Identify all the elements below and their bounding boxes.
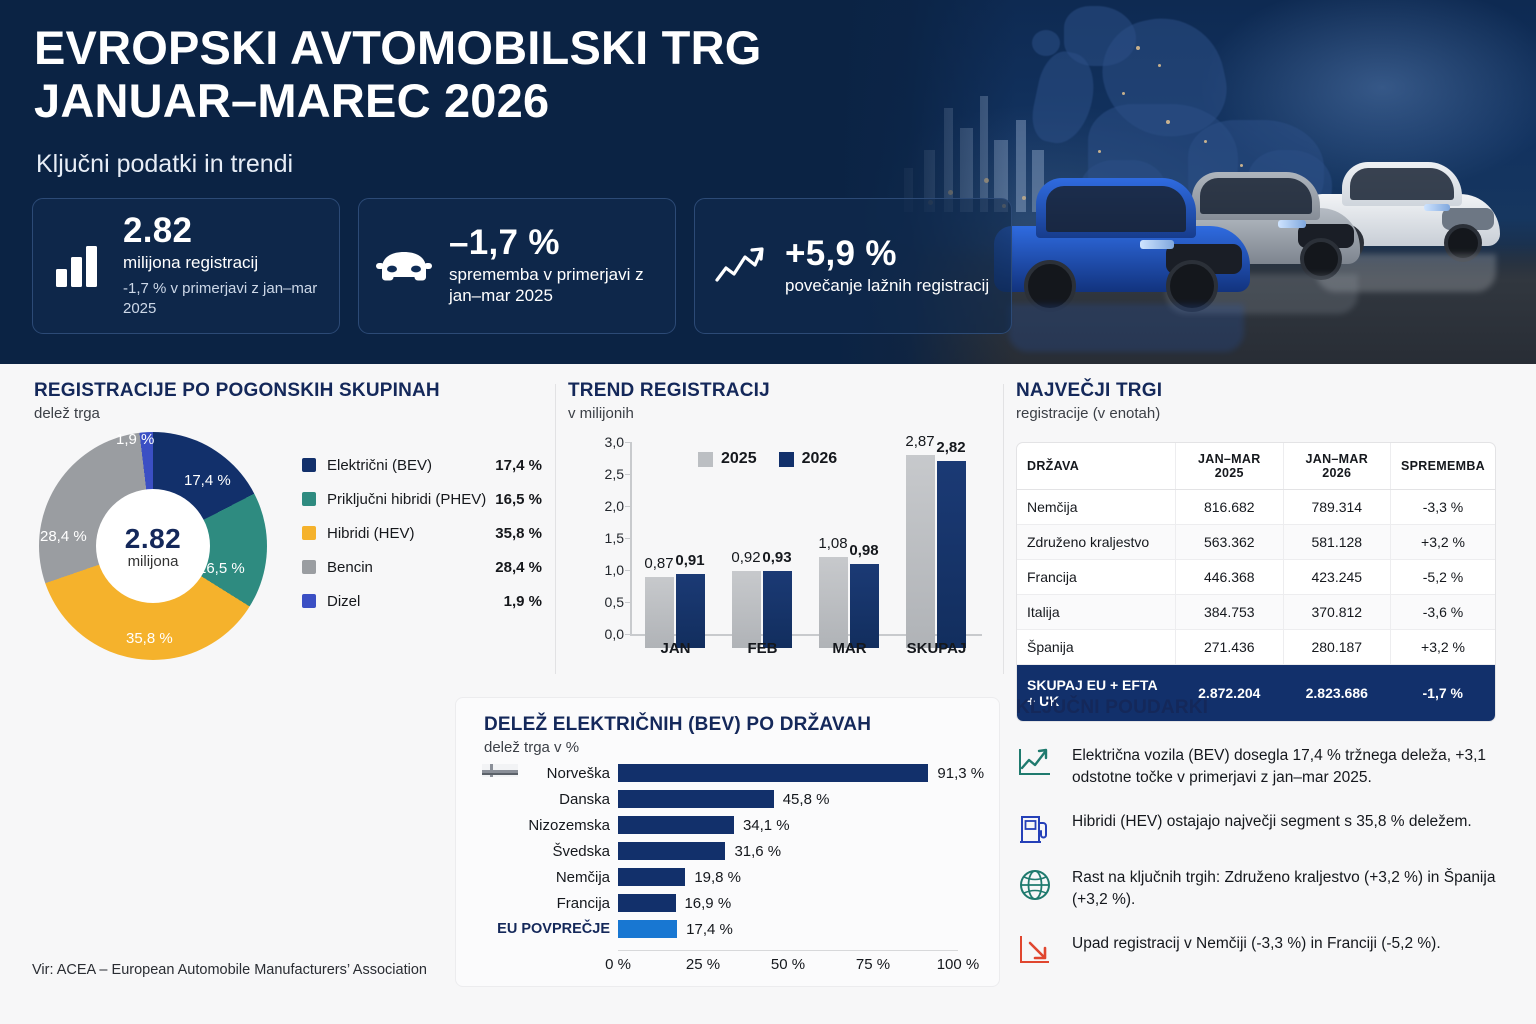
y-tick-mark [625,474,630,475]
bar-group: 1,080,98 [819,456,879,648]
bev-bar [618,842,725,860]
markets-subtitle: registracije (v enotah) [1016,405,1506,422]
bar-group: 0,870,91 [645,456,705,648]
donut-center-unit: milijona [128,553,179,570]
bev-country-label: Norveška [547,765,610,782]
kpi-label: povečanje lažnih registracij [785,275,995,296]
table-cell-change: +3,2 % [1391,525,1495,560]
title-line-2: JANUAR–MAREC 2026 [34,75,934,128]
bev-country-label: Nemčija [556,869,610,886]
y-tick-mark [625,634,630,635]
donut-label-diesel: 1,9 % [116,431,154,448]
legend-label: Bencin [327,559,495,576]
car-blue [988,168,1260,314]
bev-value-label: 16,9 % [684,895,731,912]
bev-value-label: 19,8 % [694,869,741,886]
y-tick-label: 3,0 [584,434,624,450]
bev-country-label: EU POVPREČJE [497,921,610,937]
legend-label: Dizel [327,593,504,610]
largest-markets-panel: NAJVEČJI TRGI registracije (v enotah) DR… [1016,380,1506,680]
bev-axis-line [618,950,958,951]
bev-x-tick: 50 % [758,956,818,973]
donut-center: 2.82 milijona [96,489,210,603]
y-tick-label: 0,5 [584,594,624,610]
y-tick-label: 1,0 [584,562,624,578]
bev-heading: DELEŽ ELEKTRIČNIH (BEV) PO DRŽAVAH delež… [484,714,871,756]
fuel-pump-icon [1016,811,1054,845]
y-tick-mark [625,602,630,603]
table-cell-country: Francija [1017,560,1176,595]
col-2025: JAN–MAR 2025 [1176,443,1283,490]
y-axis-line [630,442,632,634]
bar-2026: 0,93 [763,571,792,648]
bev-country-label: Danska [559,791,610,808]
divider-2 [1003,384,1004,674]
donut-legend: Električni (BEV) 17,4 % Priključni hibri… [302,448,542,618]
col-country: DRŽAVA [1017,443,1176,490]
legend-value: 35,8 % [495,525,542,542]
kpi-value: 2.82 [123,213,323,250]
legend-swatch-hev [302,526,316,540]
bev-bar [618,790,774,808]
bev-x-tick: 75 % [843,956,903,973]
bar-2025: 0,87 [645,577,674,648]
markets-table: DRŽAVA JAN–MAR 2025 JAN–MAR 2026 SPREMEM… [1017,443,1495,721]
bev-x-tick: 100 % [928,956,988,973]
highlight-item: Hibridi (HEV) ostajajo največji segment … [1016,811,1516,845]
table-row: Francija446.368423.245-5,2 % [1017,560,1495,595]
kpi-label: milijona registracij [123,252,323,273]
highlight-text: Upad registracij v Nemčiji (-3,3 %) in F… [1072,933,1441,955]
highlight-text: Rast na ključnih trgih: Združeno kraljes… [1072,867,1516,911]
y-tick-label: 1,5 [584,530,624,546]
bev-value-label: 91,3 % [937,765,984,782]
header-banner: EVROPSKI AVTOMOBILSKI TRG JANUAR–MAREC 2… [0,0,1536,364]
highlight-item: Upad registracij v Nemčiji (-3,3 %) in F… [1016,933,1516,965]
table-cell-y2025: 384.753 [1176,595,1283,630]
bar-value-label: 0,98 [849,542,878,559]
legend-value: 1,9 % [504,593,542,610]
legend-swatch-phev [302,492,316,506]
bev-country-label: Nizozemska [528,817,610,834]
x-axis-label: MAR [806,640,893,657]
table-cell-y2025: 271.436 [1176,630,1283,665]
trend-up-icon [1016,745,1054,777]
kpi-value: +5,9 % [785,236,995,273]
infographic-page: EVROPSKI AVTOMOBILSKI TRG JANUAR–MAREC 2… [0,0,1536,1024]
source-note: Vir: ACEA – European Automobile Manufact… [32,962,427,978]
highlights-title: KLJUČNI POUDARKI [1016,697,1516,719]
legend-item: Električni (BEV) 17,4 % [302,448,542,482]
bar-group: 0,920,93 [732,456,792,648]
y-tick-mark [625,570,630,571]
table-row: Španija271.436280.187+3,2 % [1017,630,1495,665]
y-tick-label: 2,0 [584,498,624,514]
table-cell-y2026: 370.812 [1283,595,1390,630]
table-cell-change: -3,3 % [1391,490,1495,525]
y-tick-label: 2,5 [584,466,624,482]
table-row: Združeno kraljestvo563.362581.128+3,2 % [1017,525,1495,560]
donut-subtitle: delež trga [34,405,544,422]
bev-x-tick: 25 % [673,956,733,973]
kpi-card-fake-registrations: +5,9 % povečanje lažnih registracij [694,198,1012,334]
legend-label: Hibridi (HEV) [327,525,495,542]
x-axis-label: JAN [632,640,719,657]
table-cell-y2026: 423.245 [1283,560,1390,595]
bar-2025: 0,92 [732,571,761,648]
bar-value-label: 0,87 [644,555,673,572]
trend-title: TREND REGISTRACIJ [568,380,988,402]
highlight-item: Rast na ključnih trgih: Združeno kraljes… [1016,867,1516,911]
bev-bar [618,894,676,912]
legend-value: 16,5 % [495,491,542,508]
trend-plot: 0,00,51,01,52,02,53,0 0,870,910,920,931,… [584,442,984,648]
legend-item: Bencin 28,4 % [302,550,542,584]
car-icon [373,246,435,286]
bar-2026: 0,98 [850,564,879,648]
col-2026: JAN–MAR 2026 [1283,443,1390,490]
legend-swatch-petrol [302,560,316,574]
bev-subtitle: delež trga v % [484,739,871,756]
donut-center-value: 2.82 [125,523,182,555]
trend-up-icon [709,244,771,288]
donut-label-bev: 17,4 % [184,472,231,489]
legend-item: Hibridi (HEV) 35,8 % [302,516,542,550]
kpi-value: –1,7 % [449,225,659,262]
table-cell-y2025: 446.368 [1176,560,1283,595]
table-cell-y2025: 563.362 [1176,525,1283,560]
page-subtitle: Ključni podatki in trendi [36,150,293,179]
table-cell-change: +3,2 % [1391,630,1495,665]
legend-item: Dizel 1,9 % [302,584,542,618]
table-cell-y2025: 816.682 [1176,490,1283,525]
table-cell-country: Italija [1017,595,1176,630]
title-line-1: EVROPSKI AVTOMOBILSKI TRG [34,22,934,75]
kpi-card-registrations: 2.82 milijona registracij -1,7 % v prime… [32,198,340,334]
bev-bar [618,920,677,938]
bar-2026: 2,82 [937,461,966,649]
donut-label-petrol: 28,4 % [40,528,87,545]
bar-value-label: 1,08 [818,535,847,552]
divider-1 [555,384,556,674]
y-tick-label: 0,0 [584,626,624,642]
bar-value-label: 0,93 [762,549,791,566]
kpi-card-row: 2.82 milijona registracij -1,7 % v prime… [32,198,1012,334]
bev-value-label: 17,4 % [686,921,733,938]
markets-title: NAJVEČJI TRGI [1016,380,1506,402]
bev-plot: Norveška91,3 %Danska45,8 %Nizozemska34,1… [480,760,980,972]
legend-swatch-diesel [302,594,316,608]
highlight-text: Hibridi (HEV) ostajajo največji segment … [1072,811,1472,833]
table-cell-country: Združeno kraljestvo [1017,525,1176,560]
bar-2025: 1,08 [819,557,848,648]
legend-value: 28,4 % [495,559,542,576]
bev-country-label: Francija [557,895,610,912]
donut-chart: 2.82 milijona 17,4 % 16,5 % 35,8 % 28,4 … [34,430,289,665]
table-cell-country: Španija [1017,630,1176,665]
norway-flag-icon [482,764,518,777]
bar-chart-icon [47,243,109,289]
table-cell-change: -3,6 % [1391,595,1495,630]
bar-2025: 2,87 [906,455,935,648]
kpi-label: sprememba v primerjavi z jan–mar 2025 [449,264,659,307]
arrow-down-icon [1016,933,1054,965]
bev-value-label: 31,6 % [734,843,781,860]
legend-label: Električni (BEV) [327,457,495,474]
bar-value-label: 2,87 [905,433,934,450]
bar-value-label: 2,82 [936,439,965,456]
y-tick-mark [625,506,630,507]
bev-bar [618,816,734,834]
page-title: EVROPSKI AVTOMOBILSKI TRG JANUAR–MAREC 2… [34,22,934,127]
bev-bar [618,868,685,886]
table-header-row: DRŽAVA JAN–MAR 2025 JAN–MAR 2026 SPREMEM… [1017,443,1495,490]
bev-bar [618,764,928,782]
bev-value-label: 45,8 % [783,791,830,808]
key-highlights-panel: KLJUČNI POUDARKI Električna vozila (BEV)… [1016,697,1516,987]
x-axis-label: SKUPAJ [893,640,980,657]
table-cell-y2026: 280.187 [1283,630,1390,665]
y-tick-mark [625,538,630,539]
powertrain-donut-panel: REGISTRACIJE PO POGONSKIH SKUPINAH delež… [34,380,544,680]
legend-item: Priključni hibridi (PHEV) 16,5 % [302,482,542,516]
col-change: SPREMEMBA [1391,443,1495,490]
bar-2026: 0,91 [676,574,705,648]
trend-subtitle: v milijonih [568,405,988,422]
legend-swatch-bev [302,458,316,472]
table-cell-change: -5,2 % [1391,560,1495,595]
markets-table-wrapper: DRŽAVA JAN–MAR 2025 JAN–MAR 2026 SPREMEM… [1016,442,1496,722]
highlight-text: Električna vozila (BEV) dosegla 17,4 % t… [1072,745,1516,789]
bar-value-label: 0,91 [675,552,704,569]
bar-value-label: 0,92 [731,549,760,566]
highlight-item: Električna vozila (BEV) dosegla 17,4 % t… [1016,745,1516,789]
registration-trend-panel: TREND REGISTRACIJ v milijonih 2025 2026 … [568,380,988,680]
bev-title: DELEŽ ELEKTRIČNIH (BEV) PO DRŽAVAH [484,714,871,736]
x-axis-label: FEB [719,640,806,657]
donut-title: REGISTRACIJE PO POGONSKIH SKUPINAH [34,380,544,402]
bev-value-label: 34,1 % [743,817,790,834]
bev-country-label: Švedska [552,843,610,860]
donut-label-phev: 16,5 % [198,560,245,577]
kpi-card-change: –1,7 % sprememba v primerjavi z jan–mar … [358,198,676,334]
bar-group: 2,872,82 [906,456,966,648]
kpi-note: -1,7 % v primerjavi z jan–mar 2025 [123,279,323,320]
table-row: Italija384.753370.812-3,6 % [1017,595,1495,630]
table-cell-y2026: 581.128 [1283,525,1390,560]
table-body: Nemčija816.682789.314-3,3 %Združeno kral… [1017,490,1495,722]
table-row: Nemčija816.682789.314-3,3 % [1017,490,1495,525]
table-cell-y2026: 789.314 [1283,490,1390,525]
donut-label-hev: 35,8 % [126,630,173,647]
bev-share-panel: DELEŽ ELEKTRIČNIH (BEV) PO DRŽAVAH delež… [455,697,1000,987]
legend-value: 17,4 % [495,457,542,474]
legend-label: Priključni hibridi (PHEV) [327,491,495,508]
bev-x-tick: 0 % [588,956,648,973]
globe-icon [1016,867,1054,901]
table-cell-country: Nemčija [1017,490,1176,525]
y-tick-mark [625,442,630,443]
